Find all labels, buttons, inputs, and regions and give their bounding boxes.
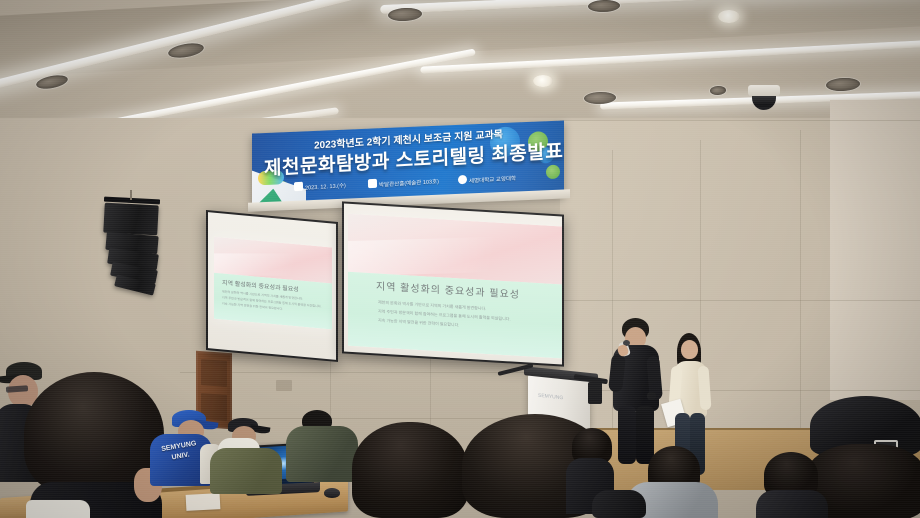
audience-long-hair-center-hair xyxy=(352,422,468,518)
banner-sub-place-wrap: 박달관산홀(예술관 103호) xyxy=(368,175,439,189)
ceiling-downlight-2 xyxy=(533,75,553,87)
banner-sub-date-wrap: 2023. 12. 13.(수) xyxy=(294,179,346,192)
podium-console xyxy=(588,382,602,404)
banner-sub-org-wrap: 세명대학교 교양대학 xyxy=(458,172,516,185)
banner-dot-green-3 xyxy=(546,165,560,180)
ceiling-vent-6 xyxy=(826,77,861,92)
audience-foreground-left-head xyxy=(24,372,164,518)
audience-olive-hoodie xyxy=(210,448,282,494)
banner-badge-date-icon xyxy=(294,182,303,192)
wall-outlet xyxy=(276,380,292,391)
audience-foreground-left-collar xyxy=(26,500,90,518)
banner-sub-date: 2023. 12. 13.(수) xyxy=(305,183,346,191)
slide-right: 지역 활성화의 중요성과 필요성 제천의 문화와 역사를 기반으로 지역의 가치… xyxy=(348,214,562,359)
wall-seam-h2 xyxy=(560,300,920,301)
floor-bag xyxy=(592,490,646,518)
banner-sub-place: 박달관산홀(예술관 103호) xyxy=(379,179,439,189)
banner-sub-org: 세명대학교 교양대학 xyxy=(469,176,516,185)
far-right-wall xyxy=(830,100,920,400)
wall-seam-h4 xyxy=(180,372,580,373)
banner-badge-place-icon xyxy=(368,179,377,189)
door-panel-upper xyxy=(201,359,227,387)
banner-badge-org-icon xyxy=(458,175,467,185)
projection-screen-right: 지역 활성화의 중요성과 필요성 제천의 문화와 역사를 기반으로 지역의 가치… xyxy=(342,201,564,366)
audience-mouse[interactable] xyxy=(324,488,340,498)
projection-screen-left: 지역 활성화의 중요성과 필요성 제천의 문화와 역사를 기반으로 지역의 가치… xyxy=(206,210,338,362)
wall-seam-5 xyxy=(430,358,431,428)
ceiling-downlight-1 xyxy=(718,10,740,23)
dome-camera-mount xyxy=(748,85,780,96)
speaker-hanger xyxy=(130,190,132,200)
projection-surface-left: 지역 활성화의 중요성과 필요성 제천의 문화와 역사를 기반으로 지역의 가치… xyxy=(208,212,336,360)
projection-surface-right: 지역 활성화의 중요성과 필요성 제천의 문화와 역사를 기반으로 지역의 가치… xyxy=(344,204,562,365)
photo-scene: 2023학년도 2학기 제천시 보조금 지원 교과목 제천문화탐방과 스토리텔링… xyxy=(0,0,920,518)
presenter2-head xyxy=(681,340,698,359)
audience-right-mid xyxy=(756,452,830,518)
audience-olive-hood xyxy=(210,418,290,488)
audience-handout xyxy=(186,493,221,511)
ceiling-vent-7 xyxy=(710,86,726,96)
slide-left: 지역 활성화의 중요성과 필요성 제천의 문화와 역사를 기반으로 지역의 가치… xyxy=(214,237,332,330)
audience-right-mid-body xyxy=(756,490,828,518)
wall-seam-h1 xyxy=(560,120,920,121)
speaker-module-1 xyxy=(103,203,158,236)
presenter2-arm-right xyxy=(697,366,711,411)
presenter1-hand-right xyxy=(647,392,656,400)
audience-long-hair-center xyxy=(352,422,472,518)
wall-seam-2 xyxy=(800,130,801,430)
audience-grey-jacket-body xyxy=(286,426,358,482)
